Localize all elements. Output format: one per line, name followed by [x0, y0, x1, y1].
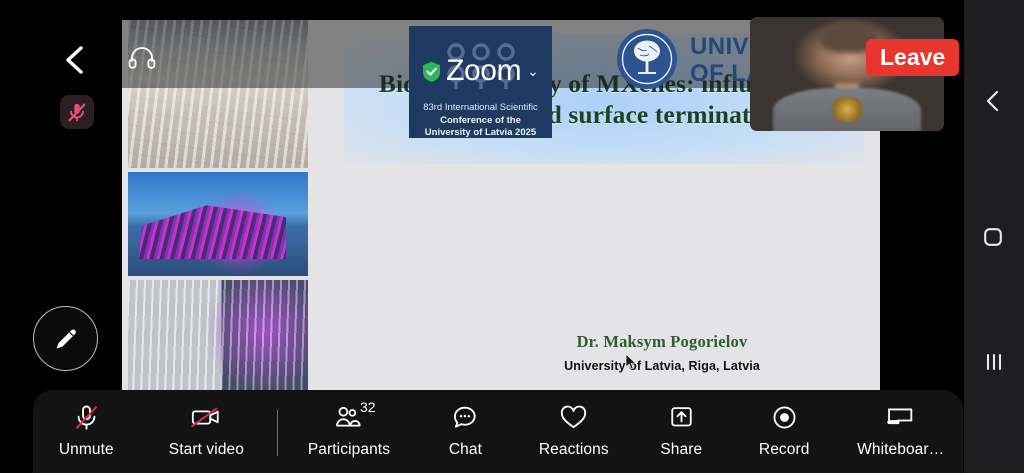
back-button[interactable] — [58, 42, 94, 78]
chat-bubble-icon — [451, 402, 480, 432]
toolbar-label: Chat — [449, 441, 482, 459]
participants-count-badge: 32 — [360, 399, 376, 415]
badge-subtitle-line3: University of Latvia 2025 — [409, 127, 552, 138]
toolbar-label: Record — [759, 441, 810, 459]
toolbar-label: Participants — [308, 441, 390, 459]
nav-recents-icon[interactable] — [982, 350, 1006, 374]
toolbar-item-reactions[interactable]: Reactions — [515, 390, 632, 473]
zoom-wordmark: Zoom — [446, 54, 521, 88]
badge-subtitle-line2: Conference of the — [409, 115, 552, 128]
annotate-button[interactable] — [33, 306, 98, 371]
toolbar-item-share[interactable]: Share — [633, 390, 731, 473]
presenter-affiliation: University of Latvia, Riga, Latvia — [452, 359, 872, 373]
zoom-badge-subtitle: 83rd International Scientific Conference… — [409, 102, 552, 138]
university-building-night-photo — [128, 172, 308, 276]
presenter-name: Dr. Maksym Pogorielov — [452, 332, 872, 352]
zoom-meeting-screen: Biocompatibility of MXenes: influence of… — [0, 0, 1024, 473]
headset-icon — [128, 47, 156, 69]
pencil-icon — [53, 326, 79, 352]
toolbar-item-participants[interactable]: 32 Participants — [282, 390, 416, 473]
toolbar-label: Start video — [169, 441, 244, 459]
verified-shield-icon — [422, 61, 441, 82]
toolbar-label: Share — [660, 441, 702, 459]
toolbar-item-chat[interactable]: Chat — [416, 390, 515, 473]
toolbar-label: Unmute — [59, 441, 114, 459]
microphone-muted-badge[interactable] — [60, 95, 94, 129]
toolbar-label: Reactions — [539, 441, 609, 459]
university-campus-photo — [128, 280, 308, 390]
toolbar-separator — [277, 410, 278, 456]
microphone-muted-icon — [72, 402, 101, 432]
share-screen-icon — [668, 402, 695, 432]
camera-off-icon — [190, 402, 222, 432]
zoom-brand-row: Zoom ⌄ — [409, 54, 552, 88]
badge-subtitle-line1: 83rd International Scientific — [409, 102, 552, 115]
heart-icon — [559, 402, 588, 432]
self-view-necklace — [828, 97, 867, 122]
record-icon — [771, 402, 798, 432]
leave-button[interactable]: Leave — [866, 39, 959, 76]
university-of-latvia-seal-icon — [616, 28, 678, 90]
toolbar-item-whiteboard[interactable]: Whiteboar… — [838, 390, 963, 473]
chevron-down-icon: ⌄ — [527, 63, 539, 80]
system-navigation-bar — [964, 0, 1024, 473]
zoom-conference-badge: Zoom ⌄ 83rd International Scientific Con… — [409, 26, 552, 138]
whiteboard-icon — [885, 402, 916, 432]
participants-icon: 32 — [334, 402, 364, 432]
nav-back-icon[interactable] — [980, 88, 1006, 114]
mouse-pointer-icon — [625, 354, 637, 370]
microphone-muted-icon — [66, 101, 88, 123]
meeting-toolbar: Unmute Start video 32 — [33, 390, 963, 473]
slide-presenter-block: Dr. Maksym Pogorielov University of Latv… — [452, 332, 872, 373]
toolbar-label: Whiteboar… — [857, 441, 944, 459]
toolbar-item-record[interactable]: Record — [730, 390, 838, 473]
toolbar-item-unmute[interactable]: Unmute — [33, 390, 140, 473]
toolbar-item-start-video[interactable]: Start video — [140, 390, 274, 473]
nav-home-icon[interactable] — [981, 225, 1005, 249]
